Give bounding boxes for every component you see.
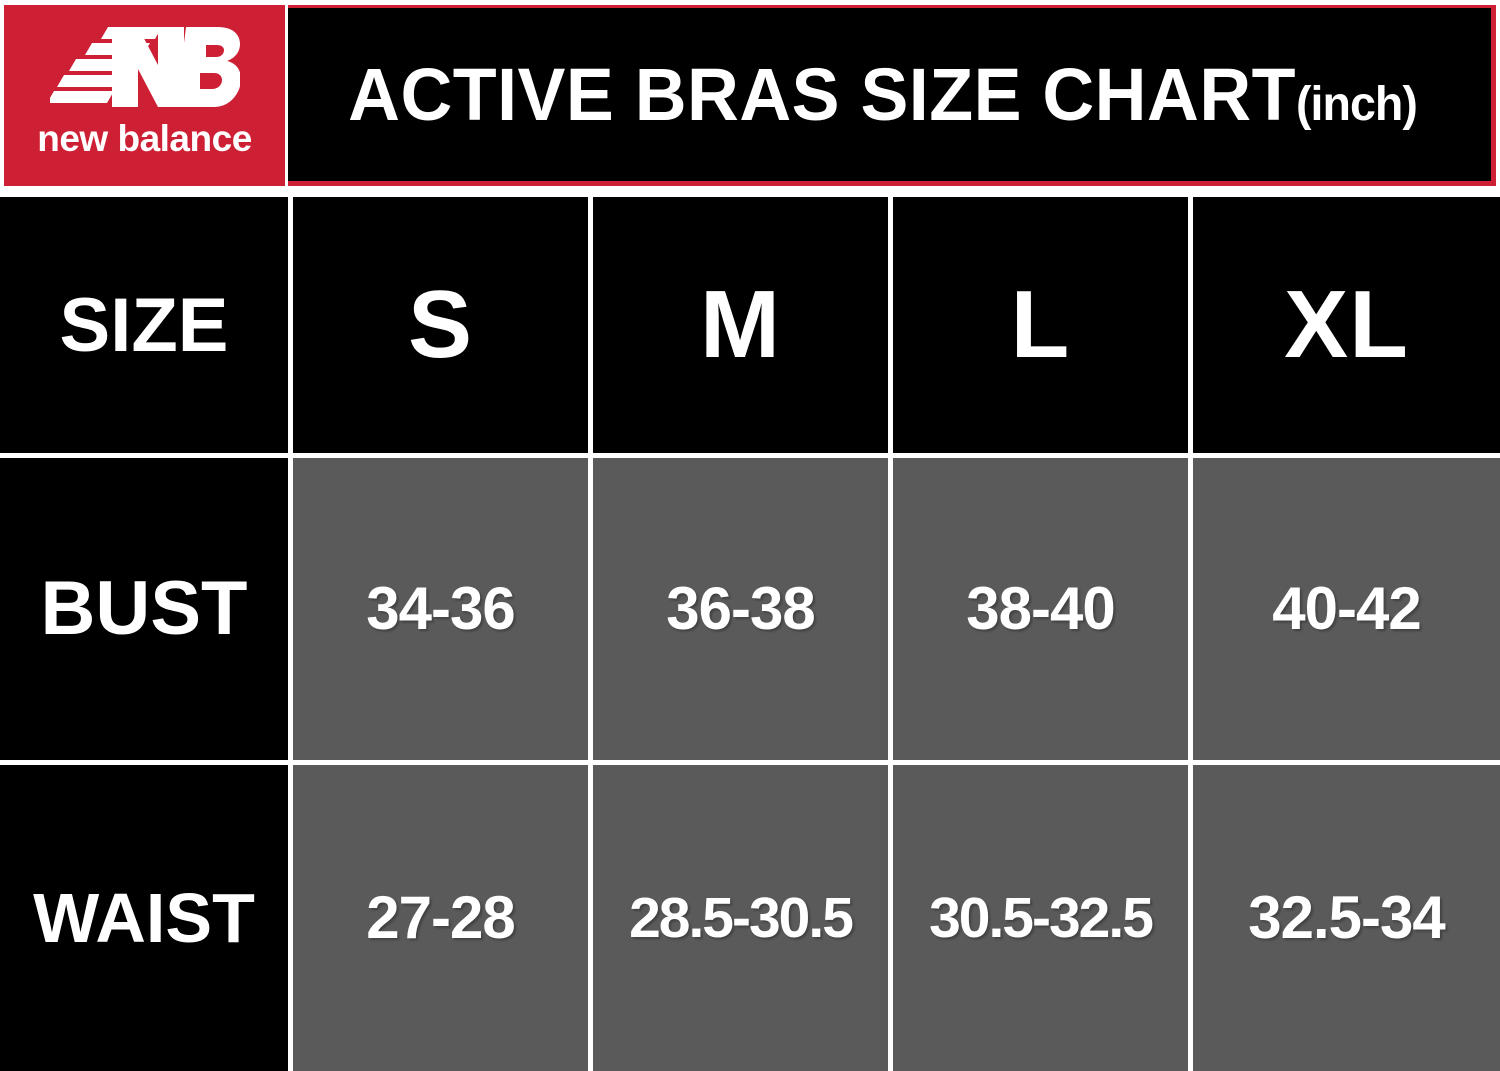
cell-bust-l: 38-40 [893, 458, 1193, 764]
chart-title-block: ACTIVE BRAS SIZE CHART(inch) [288, 5, 1496, 186]
size-chart-table: SIZE S M L XL BUST 34-36 36-38 38-40 40-… [0, 197, 1500, 1071]
row-label-bust: BUST [0, 458, 293, 764]
cell-bust-s: 34-36 [293, 458, 593, 764]
new-balance-nb-logo-icon [50, 21, 240, 113]
chart-banner: new balance ACTIVE BRAS SIZE CHART(inch) [0, 0, 1500, 192]
table-row-bust: BUST 34-36 36-38 38-40 40-42 [0, 458, 1500, 764]
brand-logo-block: new balance [4, 5, 285, 186]
cell-waist-s: 27-28 [293, 765, 593, 1071]
column-header-l: L [893, 197, 1193, 458]
table-header-row: SIZE S M L XL [0, 197, 1500, 458]
column-header-m: M [593, 197, 893, 458]
size-chart-root: new balance ACTIVE BRAS SIZE CHART(inch)… [0, 0, 1500, 1071]
cell-waist-xl: 32.5-34 [1193, 765, 1500, 1071]
column-header-xl: XL [1193, 197, 1500, 458]
column-header-size: SIZE [0, 197, 293, 458]
cell-waist-m: 28.5-30.5 [593, 765, 893, 1071]
row-label-waist: WAIST [0, 765, 293, 1071]
cell-bust-m: 36-38 [593, 458, 893, 764]
cell-bust-xl: 40-42 [1193, 458, 1500, 764]
page-title-unit: (inch) [1296, 78, 1417, 131]
table-row-waist: WAIST 27-28 28.5-30.5 30.5-32.5 32.5-34 [0, 765, 1500, 1071]
page-title: ACTIVE BRAS SIZE CHART(inch) [288, 52, 1417, 137]
cell-waist-l: 30.5-32.5 [893, 765, 1193, 1071]
page-title-main: ACTIVE BRAS SIZE CHART [348, 53, 1296, 136]
column-header-s: S [293, 197, 593, 458]
brand-wordmark: new balance [4, 117, 285, 161]
